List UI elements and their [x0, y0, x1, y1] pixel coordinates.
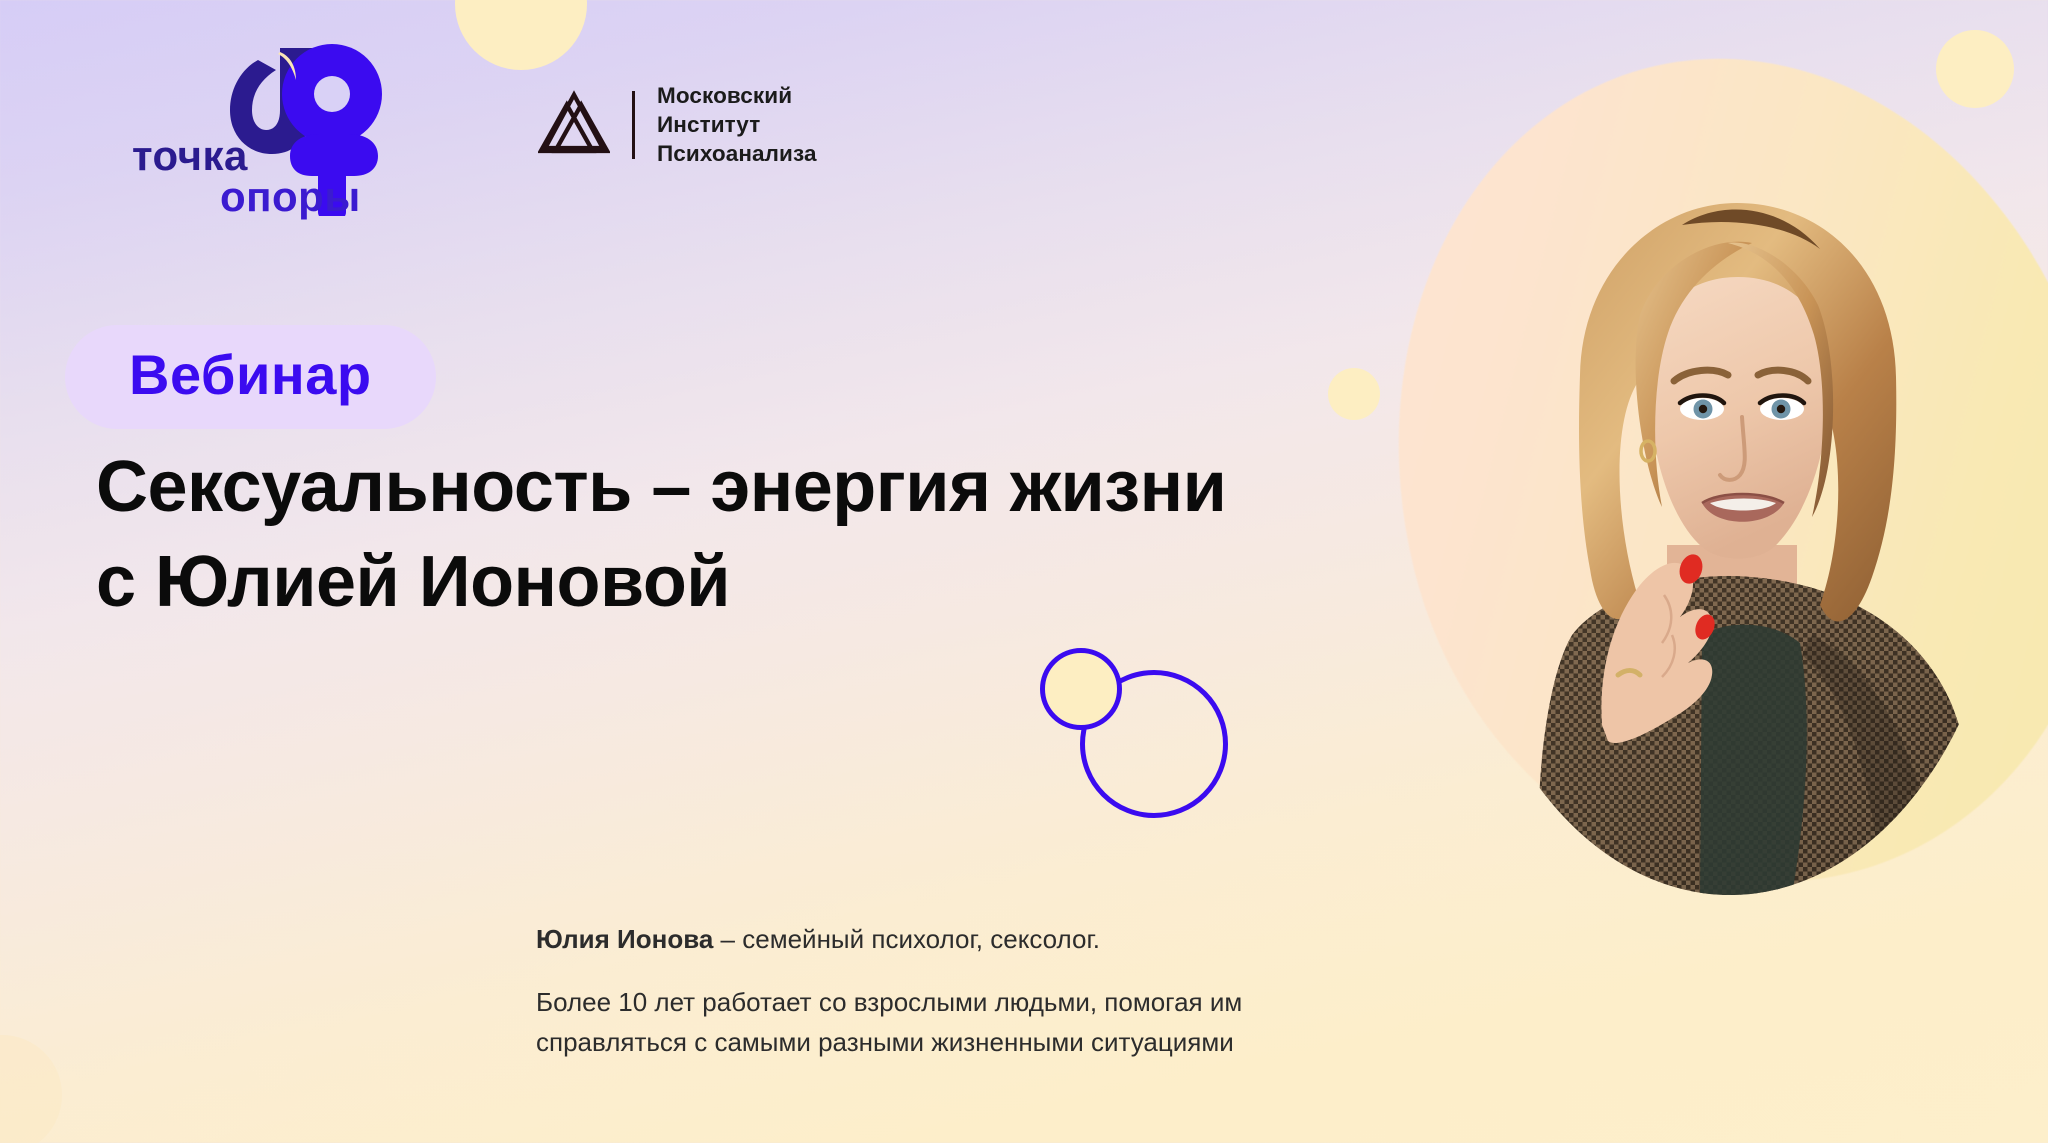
mip-logo-line1: Московский	[657, 82, 817, 111]
speaker-portrait-image	[1452, 165, 2008, 895]
speaker-description-line1: Более 10 лет работает со взрослыми людьм…	[536, 983, 1366, 1023]
speaker-description: Более 10 лет работает со взрослыми людьм…	[536, 983, 1366, 1062]
mip-logo-line3: Психоанализа	[657, 140, 817, 169]
mip-logo-divider	[632, 91, 635, 159]
cream-circle-top-right	[1936, 30, 2014, 108]
valknut-icon	[538, 89, 610, 161]
tochka-opory-logo-line2: опоры	[220, 173, 361, 221]
mip-logo[interactable]: Московский Институт Психоанализа	[538, 82, 817, 168]
cream-circle-mid-right	[1328, 368, 1380, 420]
webinar-badge: Вебинар	[65, 325, 436, 429]
speaker-role: семейный психолог, сексолог.	[742, 924, 1100, 954]
speaker-portrait	[1452, 165, 2008, 895]
speaker-name: Юлия Ионова	[536, 924, 713, 954]
tochka-opory-logo[interactable]: точка опоры	[140, 36, 440, 216]
speaker-bio: Юлия Ионова – семейный психолог, сексоло…	[536, 920, 1366, 1062]
speaker-separator: –	[713, 924, 742, 954]
page-title: Сексуальность – энергия жизни с Юлией Ио…	[96, 440, 1356, 630]
cream-circle-left-bottom	[0, 1035, 62, 1143]
overlapping-rings-decoration	[1040, 648, 1240, 828]
speaker-lead-line: Юлия Ионова – семейный психолог, сексоло…	[536, 920, 1366, 959]
page-title-line2: с Юлией Ионовой	[96, 535, 1356, 630]
mip-logo-line2: Институт	[657, 111, 817, 140]
page-title-line1: Сексуальность – энергия жизни	[96, 440, 1356, 535]
ring-large-outline-icon	[1080, 670, 1228, 818]
cream-circle-top-center	[455, 0, 587, 70]
speaker-description-line2: справляться с самыми разными жизненными …	[536, 1023, 1366, 1063]
mip-logo-text: Московский Институт Психоанализа	[657, 82, 817, 168]
ring-small-filled-icon	[1040, 648, 1122, 730]
